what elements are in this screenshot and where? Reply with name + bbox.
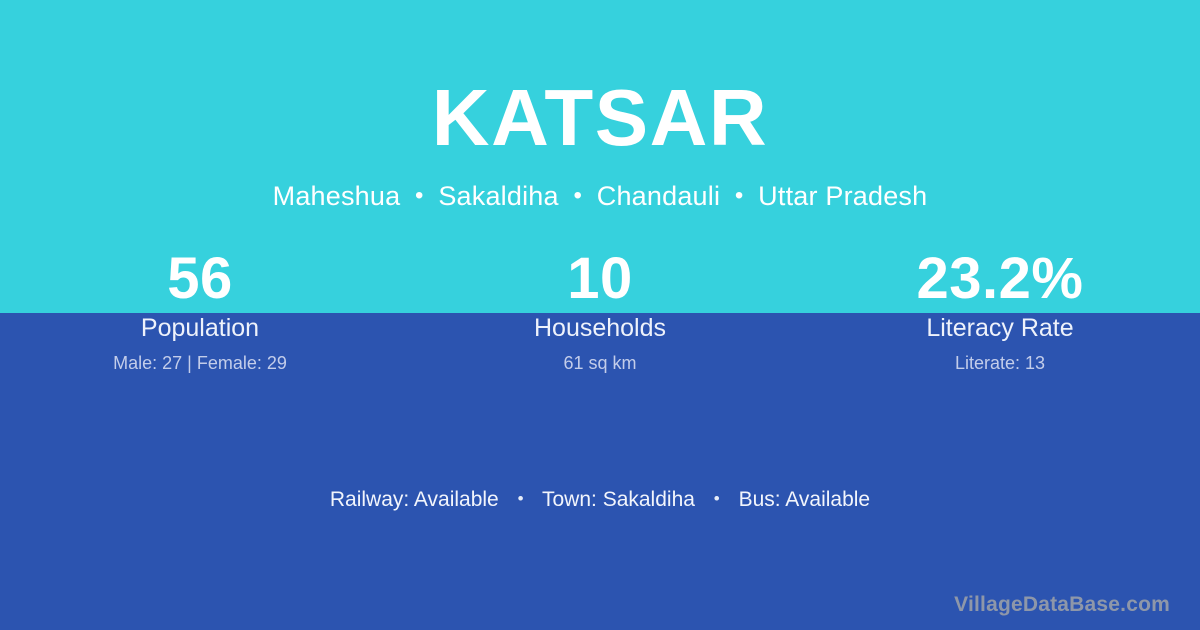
breadcrumb-separator-icon: •	[408, 182, 431, 209]
breadcrumb-separator-icon: •	[566, 182, 589, 209]
amenity-bus: Bus: Available	[739, 488, 871, 511]
amenity-railway: Railway: Available	[330, 488, 499, 511]
breadcrumb-block: Maheshua	[273, 181, 401, 211]
site-watermark: VillageDataBase.com	[954, 592, 1170, 618]
amenity-town: Town: Sakaldiha	[542, 488, 695, 511]
breadcrumb-tehsil: Sakaldiha	[438, 181, 558, 211]
stat-subtext: 61 sq km	[400, 352, 800, 374]
stat-label: Population	[0, 313, 400, 343]
breadcrumb: Maheshua • Sakaldiha • Chandauli • Uttar…	[0, 182, 1200, 212]
stat-label: Literacy Rate	[800, 313, 1200, 343]
stat-literacy-rate: 23.2% Literacy Rate Literate: 13	[800, 248, 1200, 374]
stat-value: 56	[0, 248, 400, 310]
stat-households: 10 Households 61 sq km	[400, 248, 800, 374]
amenities-row: Railway: Available • Town: Sakaldiha • B…	[0, 486, 1200, 515]
statistics-row: 56 Population Male: 27 | Female: 29 10 H…	[0, 248, 1200, 374]
breadcrumb-separator-icon: •	[728, 182, 751, 209]
card-header: KATSAR Maheshua • Sakaldiha • Chandauli …	[0, 0, 1200, 212]
stat-population: 56 Population Male: 27 | Female: 29	[0, 248, 400, 374]
amenity-separator-icon: •	[701, 485, 733, 513]
stat-subtext: Male: 27 | Female: 29	[0, 352, 400, 374]
page-title: KATSAR	[0, 78, 1200, 158]
breadcrumb-state: Uttar Pradesh	[758, 181, 927, 211]
village-info-card: KATSAR Maheshua • Sakaldiha • Chandauli …	[0, 0, 1200, 630]
stat-subtext: Literate: 13	[800, 352, 1200, 374]
breadcrumb-district: Chandauli	[597, 181, 720, 211]
stat-value: 10	[400, 248, 800, 310]
stat-value: 23.2%	[800, 248, 1200, 310]
amenity-separator-icon: •	[505, 485, 537, 513]
stat-label: Households	[400, 313, 800, 343]
